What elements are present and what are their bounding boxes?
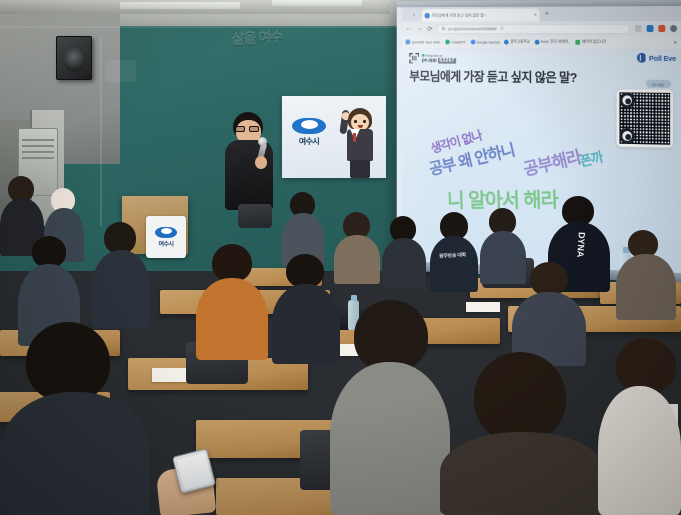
bookmark-item[interactable]: ChatGPT	[445, 40, 465, 45]
back-icon[interactable]: ←	[406, 25, 412, 32]
glasses-icon	[235, 126, 262, 132]
lock-icon: ⊟	[442, 26, 446, 32]
bookmark-icon	[504, 40, 509, 45]
browser-chrome: ⌄ 부모님에게 가장 듣고 싶지 않은 말? × + ← → ⟳ ⊟ pe.ap…	[402, 6, 681, 50]
chair-back	[238, 204, 272, 228]
extension-icon[interactable]	[635, 25, 642, 32]
podium-sign: 여수시	[146, 216, 186, 258]
speaker-hand	[255, 156, 267, 169]
bookmark-item[interactable]: 제이미 업무시간	[576, 40, 607, 45]
bookmark-item[interactable]: Quicklist Your wish.	[406, 40, 441, 45]
browser-tabstrip: ⌄ 부모님에게 가장 듣고 싶지 않은 말? × +	[402, 6, 681, 21]
microphone-head	[258, 137, 267, 146]
profile-avatar[interactable]	[670, 25, 677, 32]
browser-toolbar: ← → ⟳ ⊟ pe.app/s/2uervienor03456089 ☆	[402, 21, 681, 36]
mascot-character	[340, 104, 380, 178]
bookmark-icon	[445, 40, 450, 45]
bookmark-icon	[406, 40, 410, 45]
wall-embossed-text: 삶을 여수	[216, 25, 298, 51]
extension-icon[interactable]	[658, 25, 665, 32]
yeosu-emblem-icon	[292, 118, 326, 134]
audience-member	[92, 222, 150, 328]
audience-member	[334, 212, 380, 284]
mascot-necktie	[353, 133, 356, 142]
bookmark-icon	[470, 40, 475, 45]
audience-member	[382, 216, 426, 288]
bookmark-label: ChatGPT	[451, 40, 465, 44]
wall-speaker-cabinet	[56, 36, 92, 80]
bookmark-item[interactable]: Ewpl. 전국 세계적...	[535, 40, 571, 45]
ceiling-light	[120, 2, 240, 9]
ceiling-light	[272, 0, 362, 6]
yeosu-emblem-icon	[155, 227, 177, 238]
new-tab-button[interactable]: +	[545, 10, 549, 17]
podium-sign-label: 여수시	[158, 239, 173, 248]
yeosu-city-label: 여수시	[299, 136, 319, 147]
yeosu-city-logo: 여수시	[292, 118, 326, 147]
bookmark-item[interactable]: 광주고등학교	[504, 40, 530, 45]
yeosu-city-banner: 여수시	[282, 96, 386, 178]
bookmark-label: Quicklist Your wish.	[411, 40, 440, 44]
mascot-body	[347, 129, 373, 161]
audience-member	[616, 230, 676, 320]
bookmark-label: 광주고등학교	[510, 40, 530, 45]
bookmark-icon	[576, 40, 581, 45]
mascot-legs	[350, 160, 370, 178]
bookmark-icon	[535, 40, 540, 45]
audience-member	[440, 352, 605, 515]
audience-member	[330, 300, 450, 515]
forward-icon[interactable]: →	[416, 25, 422, 32]
jacket-text: DYNA	[575, 232, 587, 258]
audience-member: 광주방송 대학	[430, 212, 478, 292]
bookmark-label: Ewpl. 전국 세계적...	[541, 40, 571, 45]
tab-title: 부모님에게 가장 듣고 싶지 않은 말?	[432, 12, 486, 18]
address-bar-url: pe.app/s/2uervienor03456089	[448, 26, 497, 31]
audience-member	[598, 338, 681, 515]
tab-list-chevron-icon[interactable]: ⌄	[412, 11, 417, 18]
classroom-photo: 삶을 여수 ⌄ 부모님에게 가장 듣고 싶지 않은 말? × + ←	[0, 0, 681, 515]
bookmark-label: Google Gemini	[476, 40, 499, 44]
bookmark-star-icon[interactable]: ☆	[500, 25, 505, 32]
tab-favicon-icon	[424, 12, 429, 18]
word-cloud-word: 공부해라	[521, 143, 584, 181]
wall-seam	[100, 36, 102, 226]
bookmark-item[interactable]: Google Gemini	[470, 40, 499, 45]
speaker-torso	[225, 140, 273, 210]
audience-member	[196, 244, 268, 360]
word-cloud-word: 폰까	[578, 147, 605, 171]
speaker-presenter	[219, 112, 281, 210]
bookmarks-bar: Quicklist Your wish. ChatGPT Google Gemi…	[402, 36, 681, 49]
audience-member	[512, 262, 586, 366]
extension-icon[interactable]	[647, 25, 654, 32]
close-icon[interactable]: ×	[534, 12, 537, 18]
paper-handout	[466, 302, 500, 312]
wall-notice	[106, 60, 136, 82]
bookmarks-overflow-icon[interactable]: »	[674, 39, 677, 45]
phone-screen[interactable]	[176, 452, 212, 489]
address-bar[interactable]: ⊟ pe.app/s/2uervienor03456089 ☆	[437, 24, 630, 34]
browser-tab[interactable]: 부모님에게 가장 듣고 싶지 않은 말? ×	[422, 9, 540, 22]
jacket-text: 광주방송 대학	[439, 251, 466, 259]
bookmark-label: 제이미 업무시간	[582, 40, 606, 45]
reload-icon[interactable]: ⟳	[427, 25, 432, 33]
audience-member	[0, 322, 150, 515]
